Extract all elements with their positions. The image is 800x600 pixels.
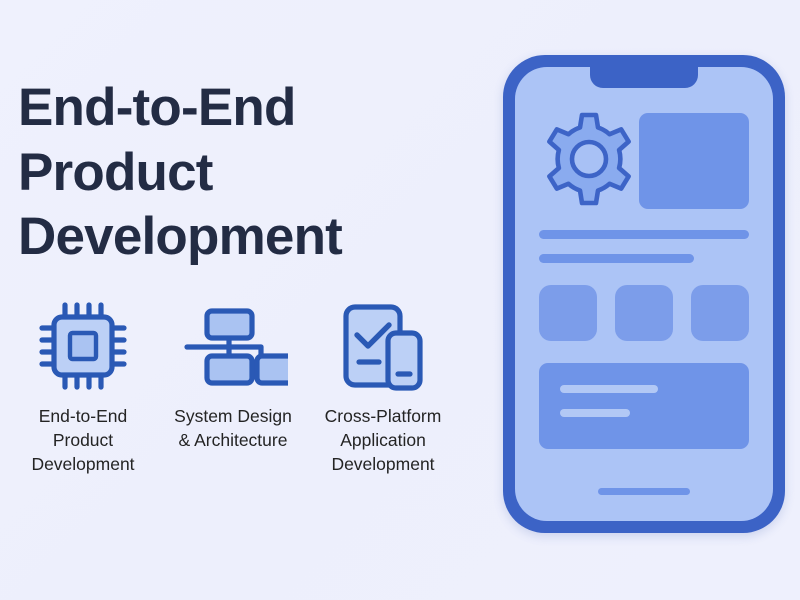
illustration-canvas: End-to-End Product Development	[0, 0, 800, 600]
hierarchy-diagram-icon	[178, 300, 288, 392]
screen-top-row	[539, 113, 749, 209]
screen-text-line	[539, 230, 749, 239]
devices-checkmark-icon	[337, 300, 429, 392]
feature-label: Cross-Platform Application Development	[325, 405, 442, 476]
feature-label: System Design & Architecture	[174, 405, 292, 453]
screen-tile	[539, 285, 597, 341]
phone-mockup	[503, 55, 785, 533]
screen-wide-card	[539, 363, 749, 449]
feature-item-system-design-architecture: System Design & Architecture	[158, 300, 308, 453]
cpu-chip-icon	[37, 300, 129, 392]
feature-label: End-to-End Product Development	[31, 405, 134, 476]
left-panel: End-to-End Product Development	[18, 76, 468, 270]
screen-card-text-line	[560, 409, 630, 417]
screen-card-text-line	[560, 385, 658, 393]
screen-tile	[615, 285, 673, 341]
headline-line-2: Product	[18, 141, 468, 206]
feature-item-end-to-end-product-development: End-to-End Product Development	[8, 300, 158, 476]
screen-tile	[691, 285, 749, 341]
feature-row: End-to-End Product Development	[8, 300, 468, 476]
feature-item-cross-platform-application-development: Cross-Platform Application Development	[308, 300, 458, 476]
phone-screen	[515, 67, 773, 521]
screen-hero-card	[639, 113, 749, 209]
home-indicator	[598, 488, 690, 495]
screen-content	[515, 67, 773, 521]
headline-line-1: End-to-End	[18, 76, 468, 141]
headline-line-3: Development	[18, 205, 468, 270]
page-title: End-to-End Product Development	[18, 76, 468, 270]
gear-icon	[539, 109, 639, 214]
screen-text-line	[539, 254, 694, 263]
screen-tile-row	[539, 285, 749, 341]
